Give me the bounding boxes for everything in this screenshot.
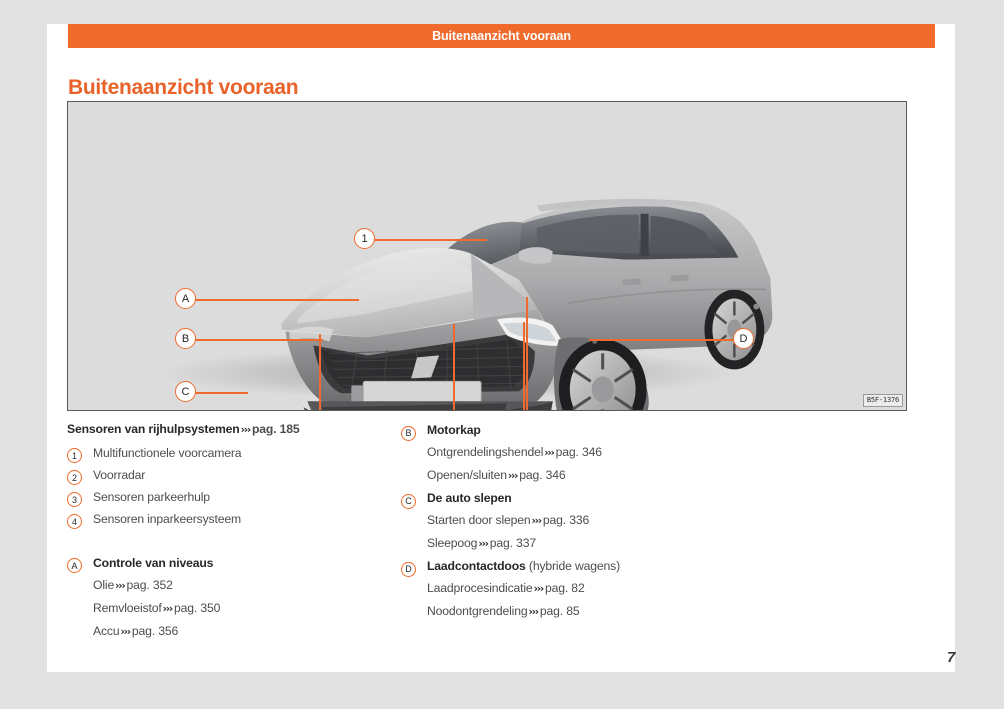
list-item[interactable]: Olie›››pag. 352 [67,574,363,597]
list-item-pageref: pag. 346 [519,468,565,482]
chevron-icon: ››› [477,538,489,550]
list-item-pageref: pag. 350 [174,601,220,615]
list-item[interactable]: Sleepoog›››pag. 337 [401,532,731,555]
list-item-label: Accu [93,624,120,638]
legend-group-b: B Motorkap Ontgrendelingshendel›››pag. 3… [401,419,731,487]
marker-B: B [401,426,416,441]
list-item[interactable]: B Motorkap [401,419,731,441]
marker-D: D [401,562,416,577]
chevron-icon: ››› [162,603,174,615]
marker-1: 1 [67,448,82,463]
list-item[interactable]: 1 Multifunctionele voorcamera [67,442,363,464]
document-viewport: Buitenaanzicht vooraan Buitenaanzicht vo… [0,0,1004,709]
callout-A: A [175,288,196,309]
chevron-icon: ››› [507,470,519,482]
list-item-label: Ontgrendelingshendel [427,445,543,459]
list-item[interactable]: 4 Sensoren inparkeersysteem [67,508,363,530]
running-header-title: Buitenaanzicht vooraan [432,29,571,43]
list-item-label: Sleepoog [427,536,477,550]
legend-group-sensors: Sensoren van rijhulpsystemen›››pag. 185 … [67,419,363,530]
legend-column-left: Sensoren van rijhulpsystemen›››pag. 185 … [67,419,363,643]
list-item-label: Openen/sluiten [427,468,507,482]
list-item[interactable]: Openen/sluiten›››pag. 346 [401,464,731,487]
legend-columns: Sensoren van rijhulpsystemen›››pag. 185 … [67,419,917,643]
list-item-pageref: pag. 356 [132,624,178,638]
list-item-label: Starten door slepen [427,513,531,527]
callout-1: 1 [354,228,375,249]
legend-group-d-heading: Laadcontactdoos (hybride wagens) [427,555,620,577]
list-item[interactable]: Starten door slepen›››pag. 336 [401,509,731,532]
legend-group-a: A Controle van niveaus Olie›››pag. 352 R… [67,552,363,643]
legend-group-b-heading: Motorkap [427,419,481,441]
leader-line-3a [453,324,455,411]
leader-line-A [195,299,359,301]
chevron-icon: ››› [531,515,543,527]
list-item-label: Voorradar [93,464,145,486]
list-item-pageref: pag. 337 [490,536,536,550]
leader-line-B [195,339,323,341]
list-item[interactable]: Ontgrendelingshendel›››pag. 346 [401,441,731,464]
leader-line-D [589,339,734,341]
legend-spacer [67,530,363,552]
figure-code-label: B5F-1376 [863,394,903,407]
callout-D: D [733,328,754,349]
marker-2: 2 [67,470,82,485]
list-item[interactable]: D Laadcontactdoos (hybride wagens) [401,555,731,577]
leader-line-1 [365,239,487,241]
list-item[interactable]: Laadprocesindicatie›››pag. 82 [401,577,731,600]
list-item[interactable]: Accu›››pag. 356 [67,620,363,643]
list-item[interactable]: C De auto slepen [401,487,731,509]
legend-group-c-heading: De auto slepen [427,487,512,509]
list-item-pageref: pag. 336 [543,513,589,527]
list-item-label: Sensoren inparkeersysteem [93,508,241,530]
leader-line-4 [526,297,528,411]
legend-group-d: D Laadcontactdoos (hybride wagens) Laadp… [401,555,731,623]
leader-line-3c [523,322,525,411]
chevron-icon: ››› [543,447,555,459]
list-item-pageref: pag. 346 [556,445,602,459]
list-item-label: Olie [93,578,114,592]
legend-group-d-title: Laadcontactdoos [427,559,526,573]
list-item-label: Laadprocesindicatie [427,581,533,595]
marker-A: A [67,558,82,573]
list-item[interactable]: A Controle van niveaus [67,552,363,574]
page-title: Buitenaanzicht vooraan [68,76,298,100]
chevron-icon: ››› [114,580,126,592]
legend-group-a-heading: Controle van niveaus [93,552,213,574]
list-item[interactable]: 3 Sensoren parkeerhulp [67,486,363,508]
marker-C: C [401,494,416,509]
list-item-pageref: pag. 85 [540,604,580,618]
running-header-bar: Buitenaanzicht vooraan [68,24,935,48]
legend-group-sensors-pageref: pag. 185 [252,422,300,436]
leader-line-C [195,392,248,394]
page-number: 7 [947,649,955,666]
legend-group-d-note: (hybride wagens) [529,559,620,573]
list-item-label: Remvloeistof [93,601,162,615]
list-item[interactable]: Remvloeistof›››pag. 350 [67,597,363,620]
legend-group-c: C De auto slepen Starten door slepen›››p… [401,487,731,555]
legend-column-right: B Motorkap Ontgrendelingshendel›››pag. 3… [401,419,731,643]
chevron-icon: ››› [120,626,132,638]
list-item[interactable]: 2 Voorradar [67,464,363,486]
callout-C: C [175,381,196,402]
list-item-label: Noodontgrendeling [427,604,527,618]
marker-4: 4 [67,514,82,529]
legend-group-sensors-title: Sensoren van rijhulpsystemen [67,422,240,436]
vehicle-figure: 1 A B C D 2 3 4 B5F-1376 [67,101,907,411]
legend-group-sensors-heading: Sensoren van rijhulpsystemen›››pag. 185 [67,419,363,442]
leader-line-2 [319,334,321,411]
list-item-pageref: pag. 82 [545,581,585,595]
list-item-label: Sensoren parkeerhulp [93,486,210,508]
chevron-icon: ››› [527,606,539,618]
callout-B: B [175,328,196,349]
chevron-icon: ››› [240,424,252,436]
vehicle-illustration [68,102,906,411]
list-item-pageref: pag. 352 [126,578,172,592]
list-item-label: Multifunctionele voorcamera [93,442,241,464]
chevron-icon: ››› [533,583,545,595]
list-item[interactable]: Noodontgrendeling›››pag. 85 [401,600,731,623]
marker-3: 3 [67,492,82,507]
